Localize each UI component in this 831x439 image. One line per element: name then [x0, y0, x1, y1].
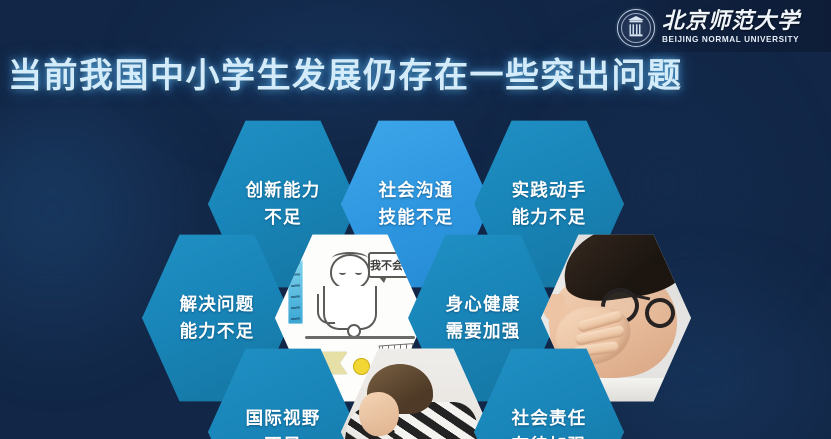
hex-label-line2: 技能不足	[379, 204, 454, 231]
hex-label-line1: 身心健康	[446, 291, 521, 318]
hex-label-line1: 社会沟通	[379, 177, 454, 204]
presentation-slide: 北京师范大学 BEIJING NORMAL UNIVERSITY 当前我国中小学…	[0, 0, 831, 439]
honeycomb-diagram: 创新能力 不足 社会沟通 技能不足 实践动手 能力不足 解决问题 能力不足	[0, 0, 831, 439]
hex-label-line2: 需要加强	[446, 318, 521, 345]
hex-label-line2: 不足	[264, 204, 301, 231]
hex-label-line1: 实践动手	[512, 177, 587, 204]
ball-shape	[353, 358, 370, 375]
hex-label-line2: 不足	[264, 432, 301, 439]
bottom-watermark: . . .	[52, 434, 83, 439]
hex-label-line1: 解决问题	[180, 291, 255, 318]
cartoon-head	[330, 254, 370, 290]
hex-label-line1: 国际视野	[246, 405, 321, 432]
hex-label-line2: 有待加强	[512, 432, 587, 439]
hex-label-line1: 社会责任	[512, 405, 587, 432]
hex-label-line1: 创新能力	[246, 177, 321, 204]
hex-label-line2: 能力不足	[512, 204, 587, 231]
hex-label-line2: 能力不足	[180, 318, 255, 345]
